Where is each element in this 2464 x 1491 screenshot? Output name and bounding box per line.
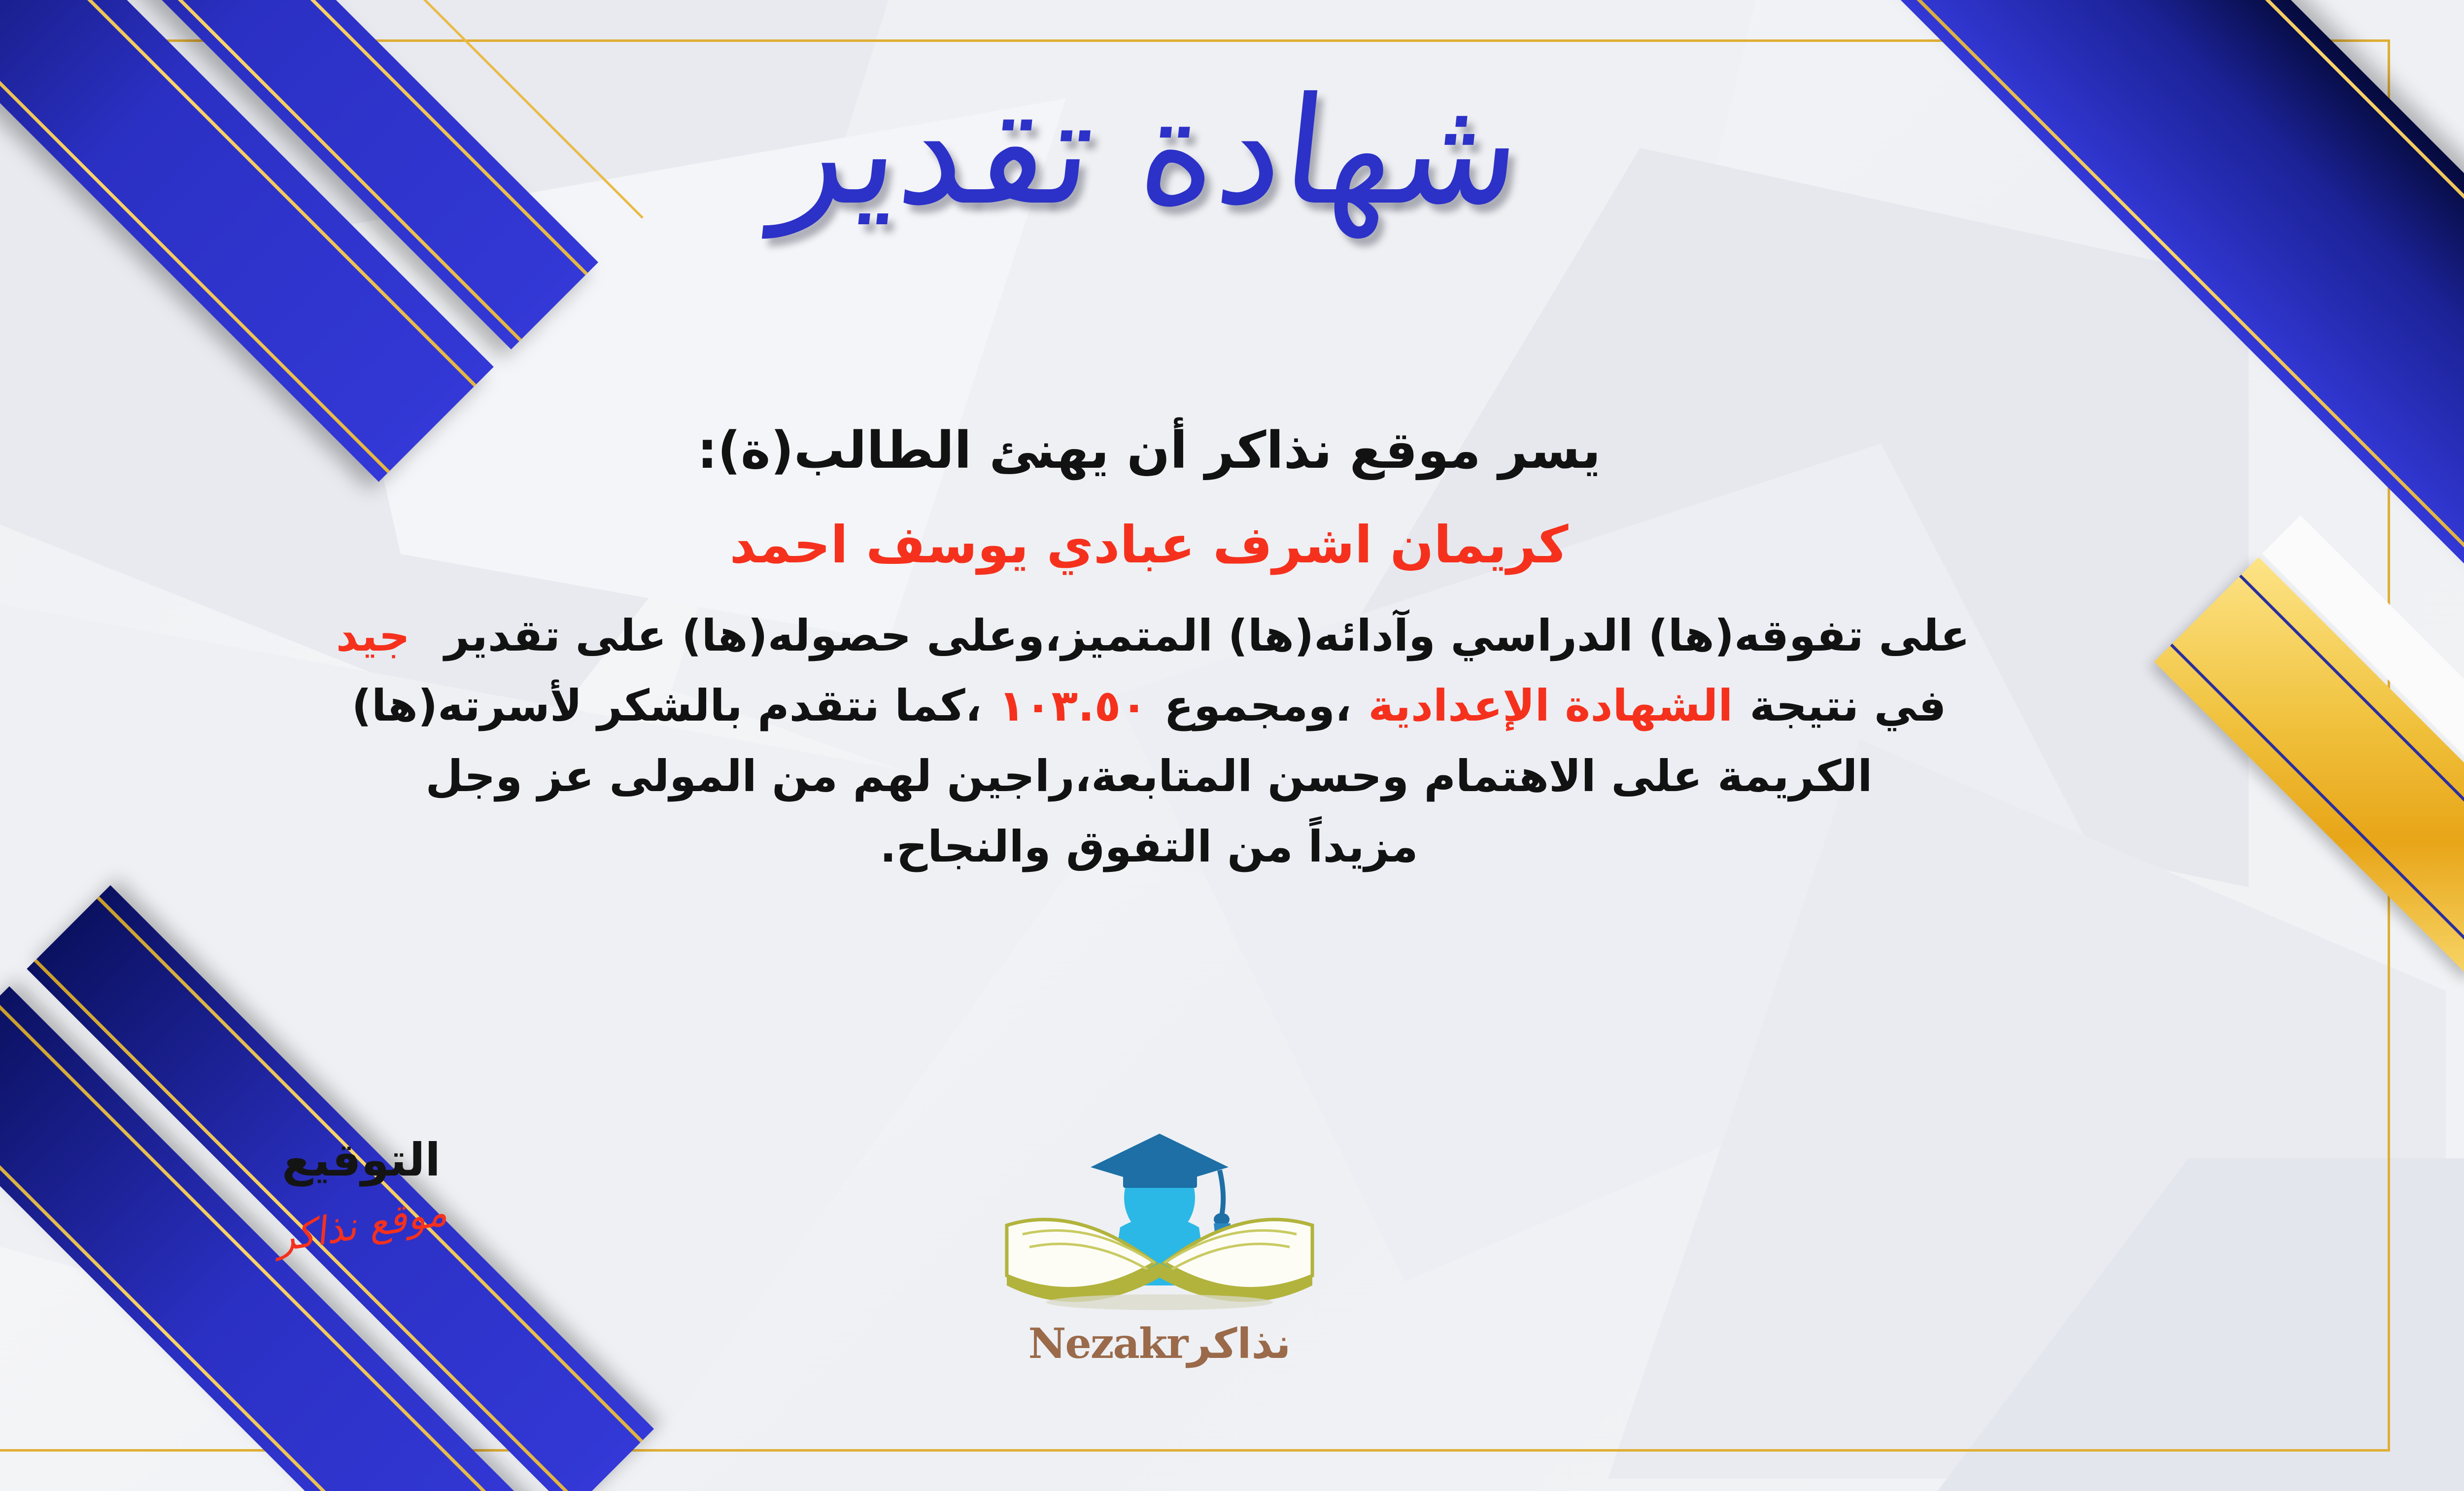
brand-name-latin: Nezakr [1028,1319,1188,1368]
citation-line-1: على تفوقه(ها) الدراسي وآدائه(ها) المتميز… [0,601,2316,671]
grade-value: جيد [336,610,410,661]
brand-name-arabic: نذاكر [1187,1319,1291,1368]
brand-logo-block: نذاكرNezakr [997,1129,1322,1368]
certificate-body: يسر موقع نذاكر أن يهنئ الطالب(ة): كريمان… [0,414,2316,882]
signature-block: التوقيع موقع نذاكر [208,1134,514,1248]
greeting-line: يسر موقع نذاكر أن يهنئ الطالب(ة): [0,414,2316,487]
page-title: شهادة تقدير [767,59,1530,244]
citation-paragraph: على تفوقه(ها) الدراسي وآدائه(ها) المتميز… [0,601,2316,882]
citation-line-2-suffix: ،كما نتقدم بالشكر لأسرته(ها) [352,680,982,731]
certificate-canvas: شهادة تقدير يسر موقع نذاكر أن يهنئ الطال… [0,0,2464,1491]
brand-wordmark: نذاكرNezakr [997,1319,1322,1368]
citation-line-3: الكريمة على الاهتمام وحسن المتابعة،راجين… [0,741,2316,812]
logo-artwork [997,1129,1322,1316]
graduate-book-icon [997,1129,1322,1316]
citation-line-4: مزيداً من التفوق والنجاح. [0,812,2316,882]
student-name: كريمان اشرف عبادي يوسف احمد [0,509,2316,581]
citation-line-1-text: على تفوقه(ها) الدراسي وآدائه(ها) المتميز… [445,610,1970,661]
signature-label: التوقيع [208,1134,514,1186]
total-score: ١٠٣.٥٠ [998,680,1147,731]
certificate-title-area: شهادة تقدير [0,59,2464,244]
citation-line-2: في نتيجةالشهادة الإعدادية،ومجموع١٠٣.٥٠،ك… [0,671,2316,741]
exam-name: الشهادة الإعدادية [1368,680,1733,731]
citation-line-2-middle: ،ومجموع [1164,680,1351,731]
citation-line-2-prefix: في نتيجة [1749,680,1946,731]
